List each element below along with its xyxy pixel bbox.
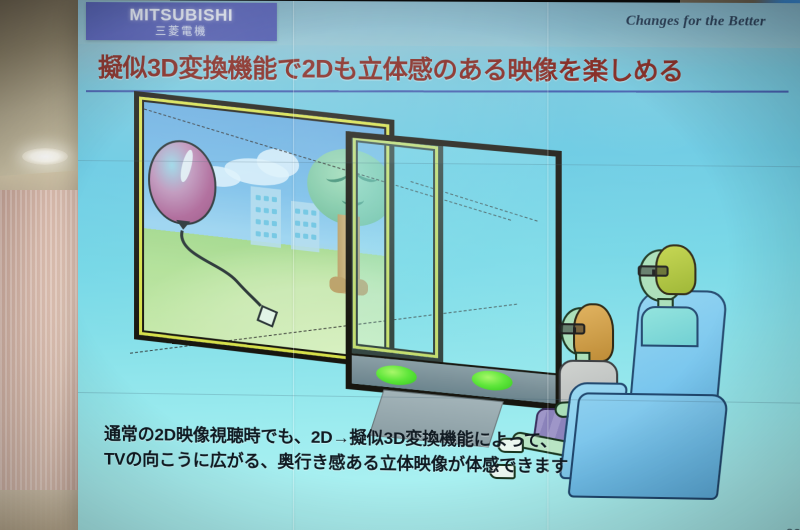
slide-caption: 通常の2D映像視聴時でも、2D→擬似3D変換機能によって、 TVの向こうに広がる… — [104, 422, 673, 481]
illustration — [78, 60, 800, 472]
presentation-slide: MITSUBISHI 三菱電機 Changes for the Better 擬… — [78, 0, 800, 530]
mitsubishi-logo: MITSUBISHI 三菱電機 — [86, 2, 277, 41]
ceiling-light-icon — [22, 148, 68, 165]
screenshot-stage: MITSUBISHI 三菱電機 Changes for the Better 擬… — [0, 0, 800, 530]
viewer-back — [639, 249, 684, 302]
viewer-front — [561, 307, 602, 356]
slide-page-number: 22 — [786, 526, 800, 530]
logo-text-jp: 三菱電機 — [155, 26, 207, 37]
panel-seam-vertical — [547, 2, 548, 530]
tv-indicator-right — [472, 369, 513, 392]
viewer-back-collar — [641, 306, 699, 347]
television — [346, 131, 562, 410]
logo-text-en: MITSUBISHI — [129, 6, 233, 24]
slide-header: MITSUBISHI 三菱電機 Changes for the Better — [78, 0, 800, 48]
brand-tagline: Changes for the Better — [626, 14, 766, 31]
viewer-front-3d-glasses-icon — [559, 323, 586, 334]
viewer-back-3d-glasses-icon — [638, 265, 669, 277]
panel-seam-vertical — [293, 1, 294, 530]
tv-indicator-left — [376, 364, 417, 387]
